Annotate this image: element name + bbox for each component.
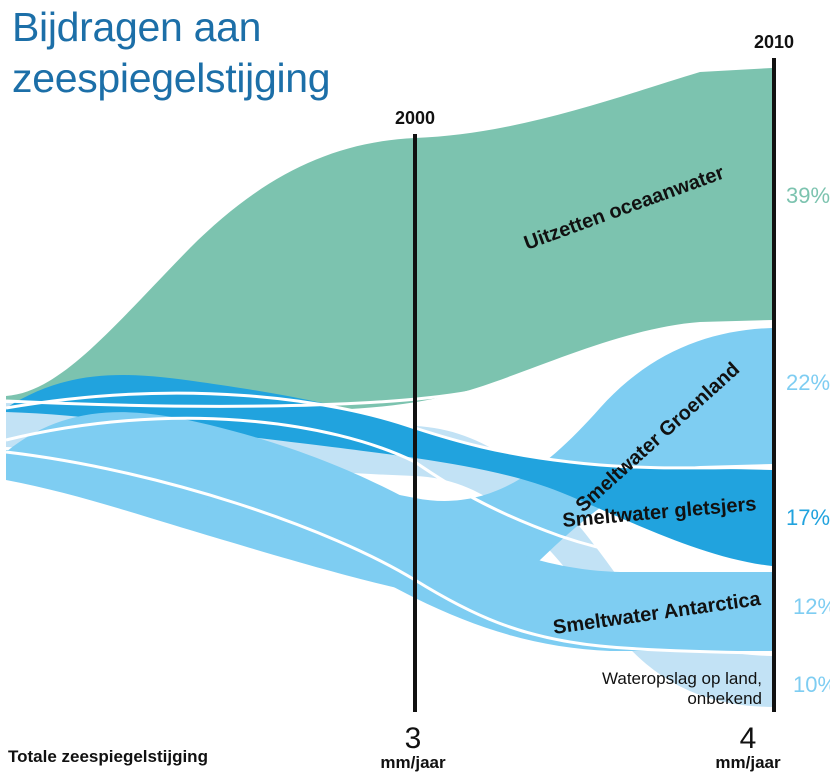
axis-value-2010: 4 <box>740 722 757 755</box>
flow-band-uitzetten <box>6 68 772 411</box>
sankey-chart: 2000 2010 39% 22% 17% 12% 10% Uitzetten … <box>0 0 830 775</box>
pct-label-antarctica: 12% <box>793 594 830 619</box>
pct-label-groenland: 22% <box>786 370 830 395</box>
flow-label-wateropslag-line2: onbekend <box>687 689 762 708</box>
axis-value-2000: 3 <box>405 722 422 755</box>
flow-label-wateropslag-line1: Wateropslag op land, <box>602 669 762 688</box>
infographic-root: Bijdragen aan zeespiegelstijging <box>0 0 830 775</box>
year-label-2010: 2010 <box>754 32 794 52</box>
year-label-2000: 2000 <box>395 108 435 128</box>
pct-label-gletsjers: 17% <box>786 505 830 530</box>
total-rise-label: Totale zeespiegelstijging <box>8 747 208 766</box>
axis-unit-2010: mm/jaar <box>715 753 781 772</box>
axis-unit-2000: mm/jaar <box>380 753 446 772</box>
pct-label-wateropslag: 10% <box>793 672 830 697</box>
pct-label-uitzetten: 39% <box>786 183 830 208</box>
